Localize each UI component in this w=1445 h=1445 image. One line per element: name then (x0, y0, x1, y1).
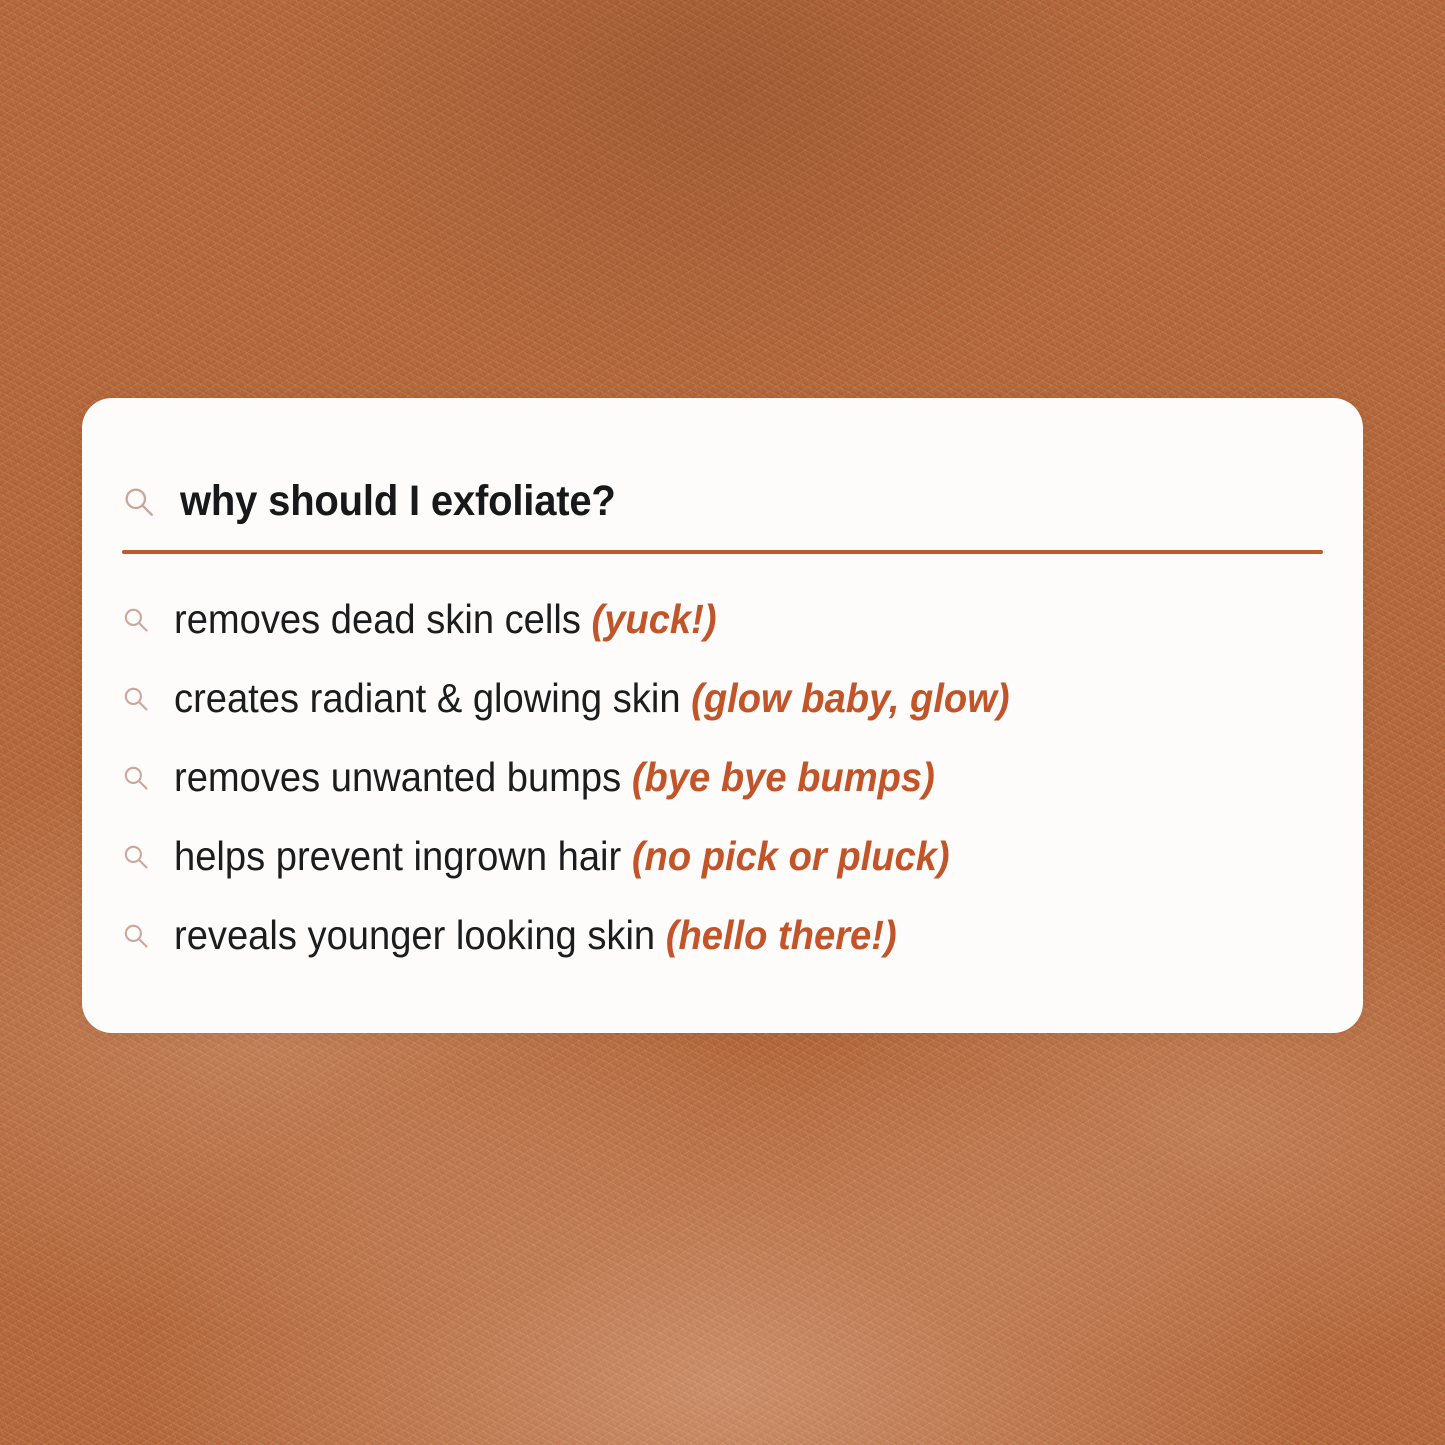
benefit-label: removes unwanted bumps (174, 754, 621, 800)
list-item: removes unwanted bumps (bye bye bumps) (122, 738, 1325, 817)
search-icon (122, 606, 150, 634)
promo-graphic: why should I exfoliate? removes dead ski… (0, 0, 1445, 1445)
search-icon (122, 922, 150, 950)
list-item: removes dead skin cells (yuck!) (122, 580, 1325, 659)
page-title: why should I exfoliate? (180, 480, 616, 523)
list-item: creates radiant & glowing skin (glow bab… (122, 659, 1325, 738)
search-icon (122, 685, 150, 713)
benefit-label: helps prevent ingrown hair (174, 833, 621, 879)
benefit-label: reveals younger looking skin (174, 912, 655, 958)
benefit-aside: (bye bye bumps) (632, 754, 935, 800)
benefit-label: creates radiant & glowing skin (174, 675, 681, 721)
benefit-text: helps prevent ingrown hair (no pick or p… (174, 836, 950, 877)
search-icon (122, 843, 150, 871)
card-header: why should I exfoliate? (120, 398, 1325, 523)
benefit-text: removes dead skin cells (yuck!) (174, 599, 717, 640)
benefit-aside: (yuck!) (592, 596, 717, 642)
benefit-text: removes unwanted bumps (bye bye bumps) (174, 757, 935, 798)
benefit-aside: (hello there!) (666, 912, 897, 958)
card-content: why should I exfoliate? removes dead ski… (120, 398, 1325, 1033)
benefit-aside: (no pick or pluck) (632, 833, 950, 879)
benefits-card: why should I exfoliate? removes dead ski… (82, 398, 1363, 1033)
benefits-list: removes dead skin cells (yuck!) creates … (120, 554, 1325, 975)
list-item: reveals younger looking skin (hello ther… (122, 896, 1325, 975)
benefit-aside: (glow baby, glow) (691, 675, 1009, 721)
benefit-text: creates radiant & glowing skin (glow bab… (174, 678, 1010, 719)
benefit-text: reveals younger looking skin (hello ther… (174, 915, 897, 956)
benefit-label: removes dead skin cells (174, 596, 581, 642)
search-icon (122, 485, 156, 519)
search-icon (122, 764, 150, 792)
list-item: helps prevent ingrown hair (no pick or p… (122, 817, 1325, 896)
